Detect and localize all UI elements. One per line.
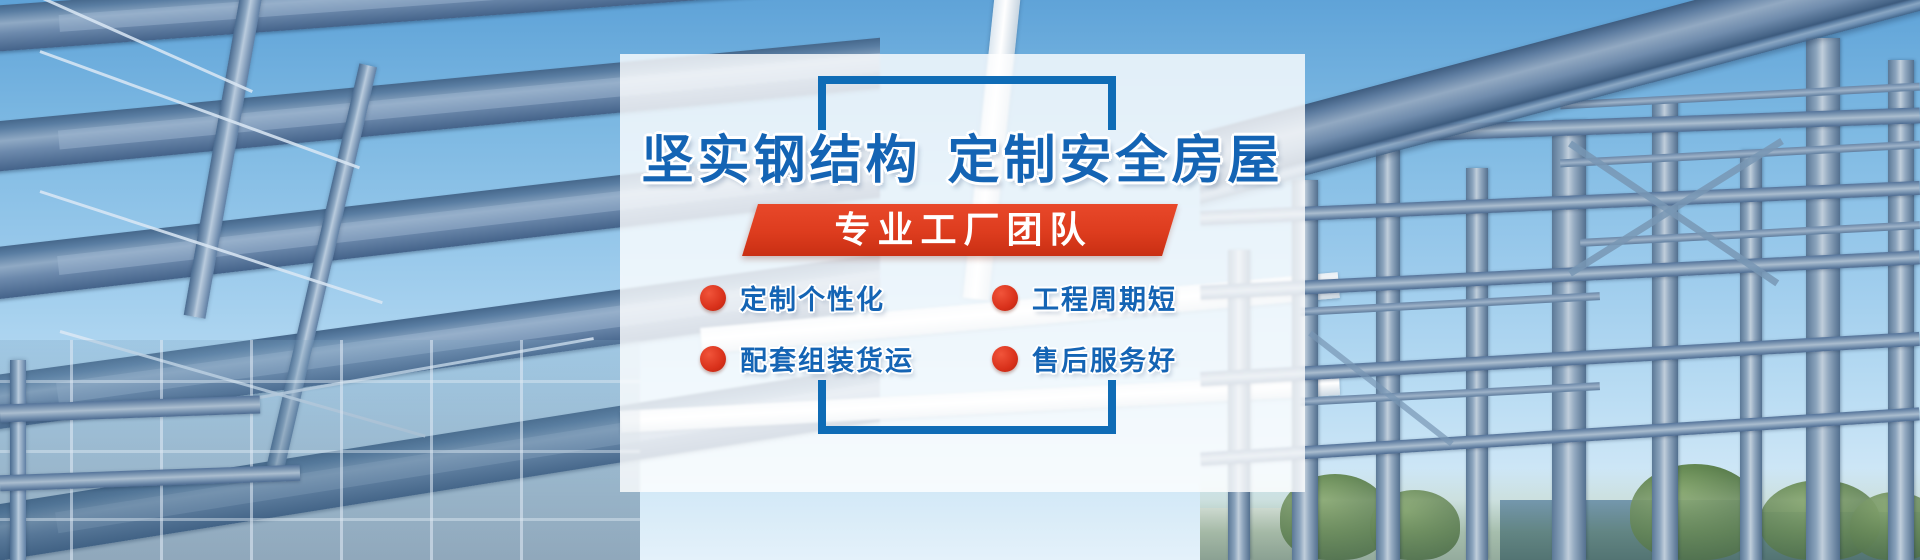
right-steel-frame <box>1200 0 1920 560</box>
feature-label: 工程周期短 <box>1032 278 1177 317</box>
list-item: 工程周期短 <box>992 278 1240 317</box>
bullet-dot-icon <box>700 285 726 311</box>
headline-part-2: 定制安全房屋 <box>948 132 1284 190</box>
feature-label: 配套组装货运 <box>740 339 914 378</box>
feature-list: 定制个性化 工程周期短 配套组装货运 售后服务好 <box>700 278 1240 378</box>
bullet-dot-icon <box>992 285 1018 311</box>
feature-label: 售后服务好 <box>1032 339 1177 378</box>
list-item: 售后服务好 <box>992 339 1240 378</box>
bullet-dot-icon <box>992 346 1018 372</box>
list-item: 定制个性化 <box>700 278 948 317</box>
glass-wall <box>0 340 640 560</box>
hero-banner: 坚实钢结构定制安全房屋 专业工厂团队 定制个性化 工程周期短 配套组装货运 售后… <box>0 0 1920 560</box>
headline-part-1: 坚实钢结构 <box>641 132 921 190</box>
bullet-dot-icon <box>700 346 726 372</box>
page-title: 坚实钢结构定制安全房屋 <box>620 118 1305 193</box>
list-item: 配套组装货运 <box>700 339 948 378</box>
bracket-bottom-icon <box>818 380 1116 434</box>
feature-label: 定制个性化 <box>740 278 885 317</box>
ribbon-label: 专业工厂团队 <box>750 204 1170 256</box>
